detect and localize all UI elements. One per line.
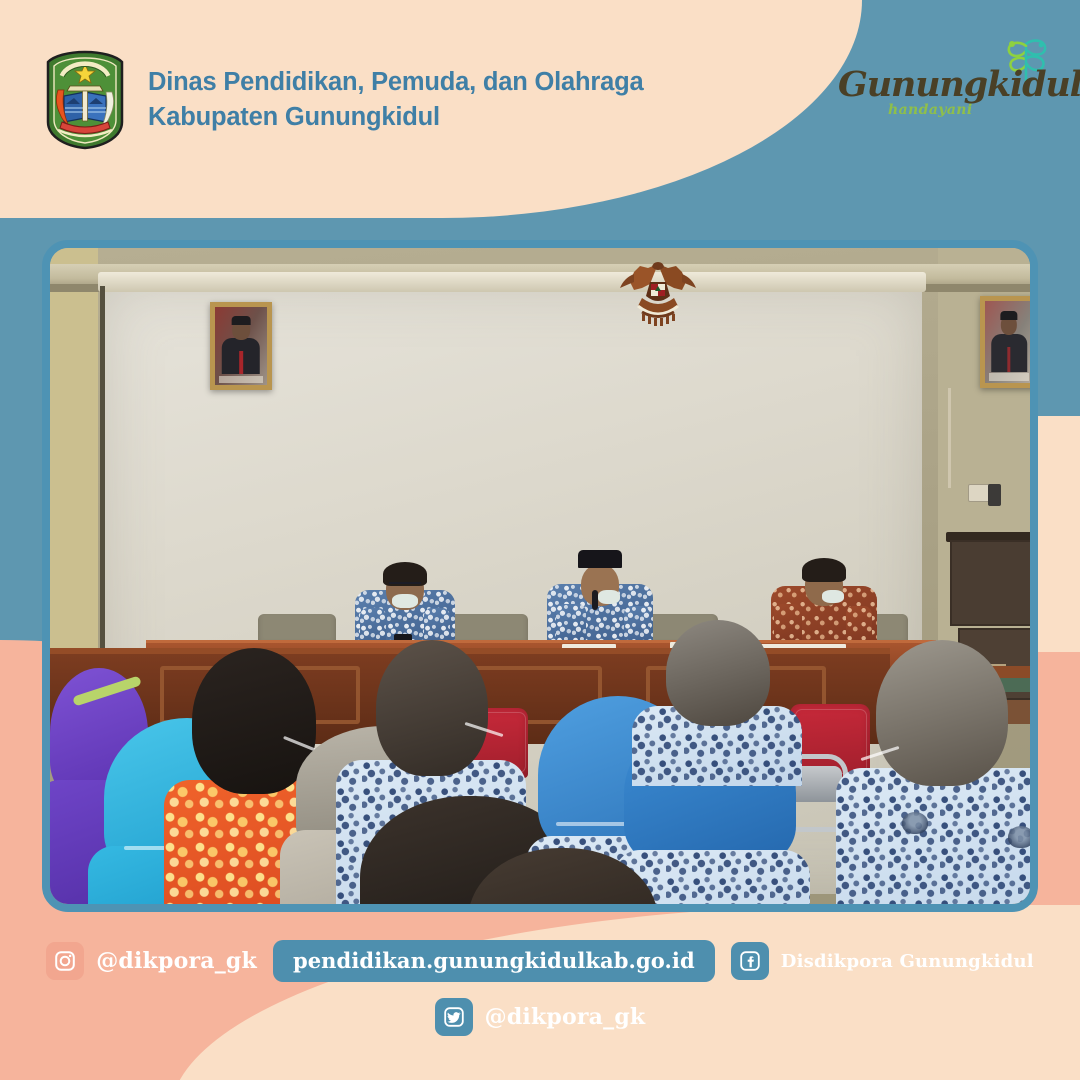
brand-wordmark: Gunungkidul [838,64,1080,105]
instagram-handle: @dikpora_gk [96,948,257,974]
wooden-cabinet-upper [950,540,1038,626]
twitter-handle: @dikpora_gk [485,1004,646,1030]
microphone-icon [592,590,598,610]
wall-left-pillar [50,248,98,660]
cabinet-label [1032,548,1038,557]
facebook-page-name: Disdikpora Gunungkidul [781,951,1034,972]
facebook-icon[interactable] [731,942,769,980]
projection-screen-roller [98,272,926,292]
meeting-room-photo: DIKPORA 2011 [50,248,1030,904]
poster-footer: @dikpora_gk pendidikan.gunungkidulkab.go… [0,912,1080,1080]
website-pill[interactable]: pendidikan.gunungkidulkab.go.id [273,940,715,982]
instagram-link[interactable]: @dikpora_gk [46,942,257,980]
panelist-left [350,546,460,652]
wall-plug [988,484,1001,506]
org-line-2: Kabupaten Gunungkidul [148,100,643,135]
twitter-link[interactable]: @dikpora_gk [435,998,646,1036]
instagram-icon[interactable] [46,942,84,980]
facebook-link[interactable]: Disdikpora Gunungkidul [731,942,1034,980]
footer-row-secondary: @dikpora_gk [0,998,1080,1036]
page-title: Dinas Pendidikan, Pemuda, dan Olahraga K… [148,65,643,135]
garuda-pancasila-emblem-icon [612,258,704,330]
gunungkidul-regency-crest-icon [44,50,126,150]
gunungkidul-handayani-brand: Gunungkidul handayani [830,38,1060,138]
brand-tagline: handayani [888,102,973,118]
president-portrait [210,302,272,390]
poster-header: Dinas Pendidikan, Pemuda, dan Olahraga K… [0,0,760,200]
audience-member-korpri-right [836,640,1038,912]
wall-socket [968,484,990,502]
twitter-icon[interactable] [435,998,473,1036]
event-photo-card: DIKPORA 2011 [42,240,1038,912]
footer-row-primary: @dikpora_gk pendidikan.gunungkidulkab.go… [0,940,1080,982]
org-line-1: Dinas Pendidikan, Pemuda, dan Olahraga [148,68,643,96]
audience-member-front-right [468,848,658,912]
audience-member-korpri-mid [632,620,802,770]
wall-cable [948,388,951,488]
vice-president-portrait [980,296,1038,388]
poster-canvas: Dinas Pendidikan, Pemuda, dan Olahraga K… [0,0,1080,1080]
